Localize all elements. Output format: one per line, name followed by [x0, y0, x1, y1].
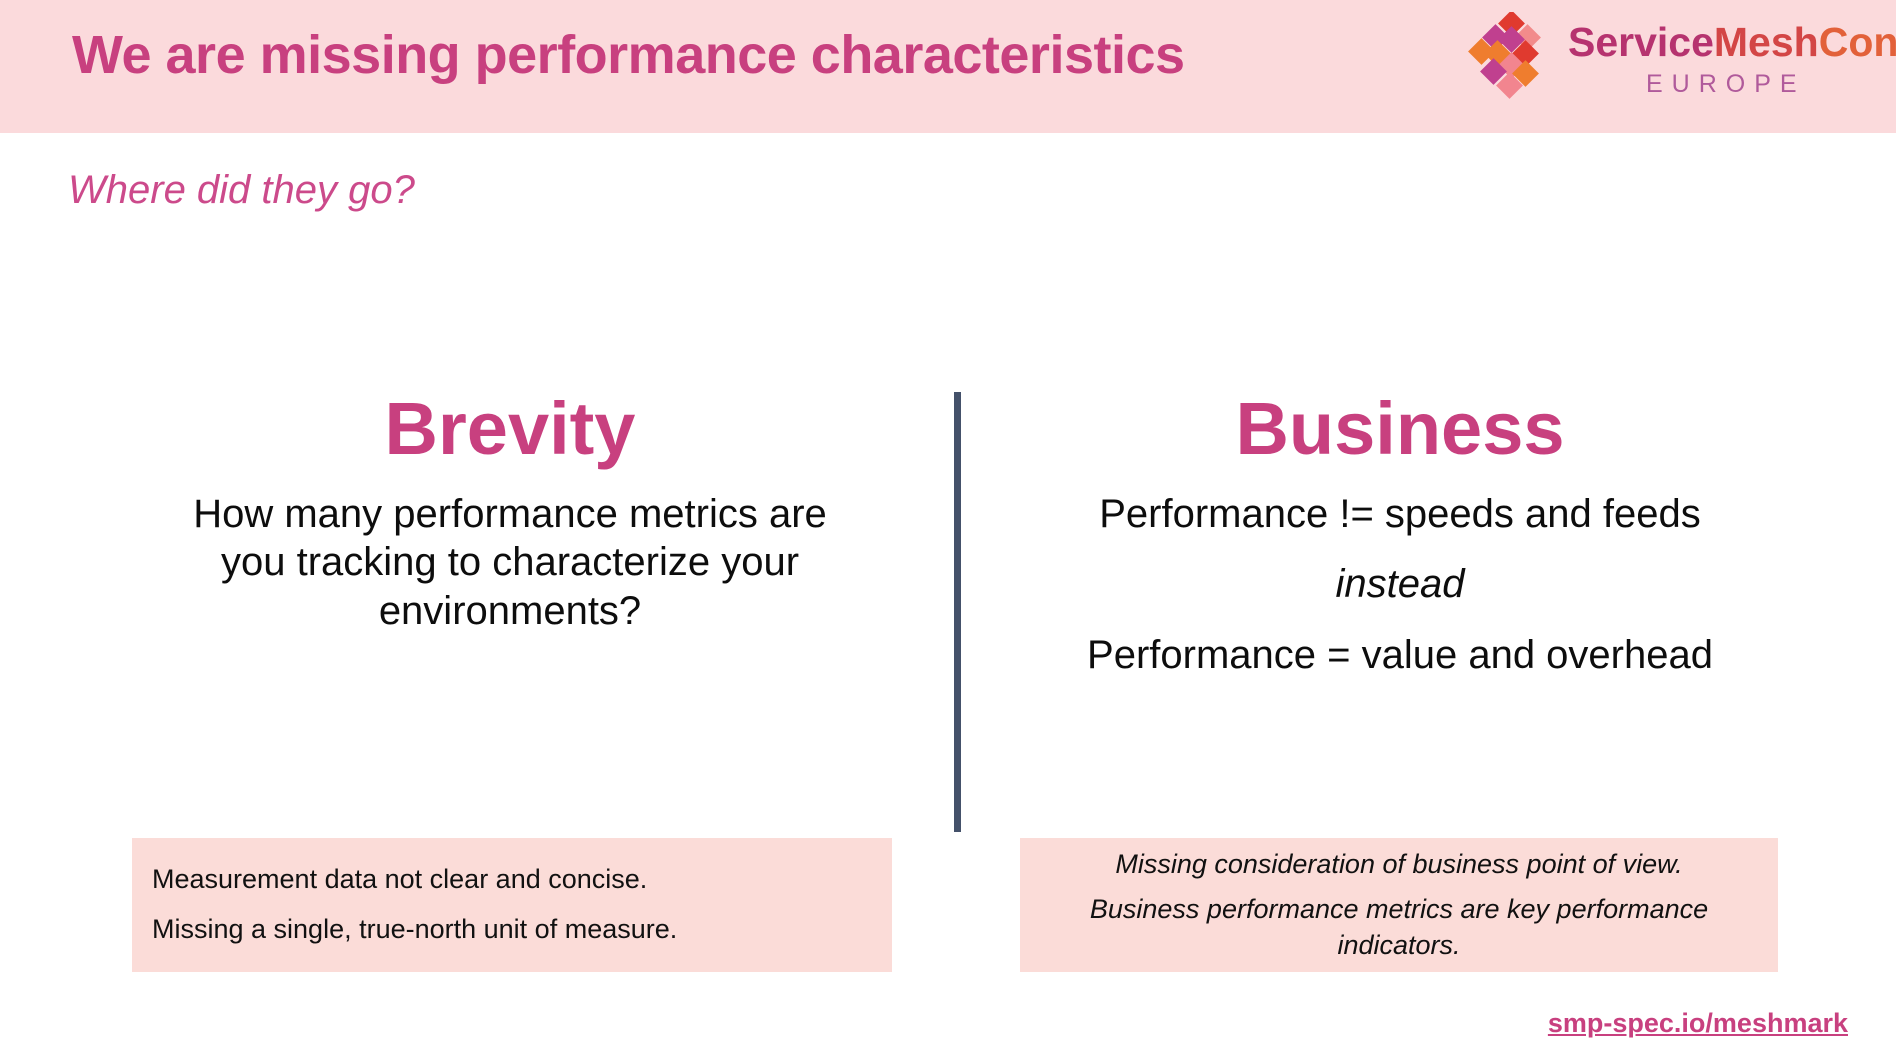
logo-word-con: Con	[1819, 19, 1896, 65]
slide-subtitle: Where did they go?	[68, 168, 415, 213]
callout-business: Missing consideration of business point …	[1020, 838, 1778, 972]
column-brevity: Brevity How many performance metrics are…	[110, 390, 910, 636]
body-line-instead: instead	[1000, 560, 1800, 609]
callout-line: Missing a single, true-north unit of mea…	[152, 912, 892, 948]
logo-wordmark: ServiceMeshCon	[1568, 22, 1896, 63]
callout-line: Measurement data not clear and concise.	[152, 862, 892, 898]
footer-link-smp-spec[interactable]: smp-spec.io/meshmark	[1548, 1008, 1848, 1039]
column-heading: Business	[1000, 390, 1800, 468]
logo-word-mesh: Mesh	[1714, 19, 1819, 65]
body-line: you tracking to characterize your	[110, 538, 910, 587]
logo-word-service: Service	[1568, 19, 1714, 65]
body-line: environments?	[110, 587, 910, 636]
logo-region-label: EUROPE	[1646, 70, 1806, 99]
column-body: Performance != speeds and feeds instead …	[1000, 490, 1800, 680]
servicemeshcon-logo: ServiceMeshCon EUROPE	[1466, 8, 1886, 126]
body-line: Performance != speeds and feeds	[1000, 490, 1800, 539]
column-divider	[954, 392, 961, 832]
page-title: We are missing performance characteristi…	[72, 24, 1185, 86]
callout-line: Missing consideration of business point …	[1044, 847, 1754, 883]
body-line: Performance = value and overhead	[1000, 631, 1800, 680]
callout-brevity: Measurement data not clear and concise. …	[132, 838, 892, 972]
column-heading: Brevity	[110, 390, 910, 468]
body-line: How many performance metrics are	[110, 490, 910, 539]
callout-line: Business performance metrics are key per…	[1044, 892, 1754, 963]
column-body: How many performance metrics are you tra…	[110, 490, 910, 636]
column-business: Business Performance != speeds and feeds…	[1000, 390, 1800, 680]
servicemeshcon-diamond-logo-icon	[1466, 12, 1558, 104]
